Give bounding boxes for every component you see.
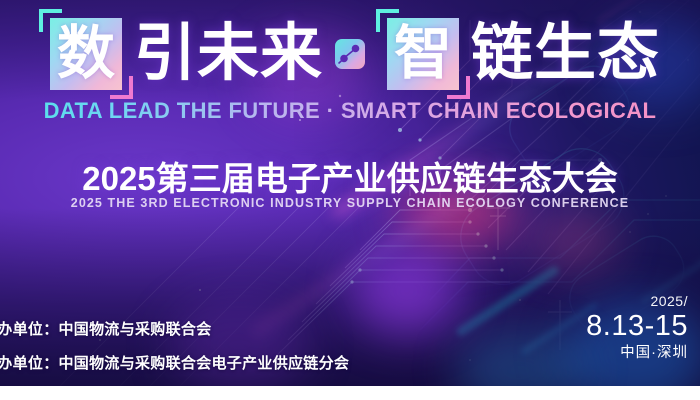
conference-name-chinese: 2025第三届电子产业供应链生态大会 xyxy=(0,152,700,200)
network-nodes-glyph xyxy=(335,39,365,69)
event-city: 中国·深圳 xyxy=(578,345,688,362)
conference-name-english: 2025 THE 3RD ELECTRONIC INDUSTRY SUPPLY … xyxy=(0,196,700,210)
event-date-block: 2025/ 8.13-15 中国·深圳 xyxy=(578,294,688,362)
event-year: 2025/ xyxy=(578,294,688,309)
organisers-block: 主办单位：中国物流与采购联合会 承办单位：中国物流与采购联合会电子产业供应链分会 xyxy=(0,318,452,386)
banner-artwork: 数 引未来 智 链生态 DATA L xyxy=(0,0,700,386)
event-days: 8.13-15 xyxy=(578,310,688,342)
headline-boxed-shu: 数 xyxy=(50,18,122,90)
corner-bracket-top-left-icon xyxy=(39,9,62,32)
headline: 数 引未来 智 链生态 xyxy=(0,14,700,94)
bottom-white-strip xyxy=(0,386,700,400)
organiser-undertaker: 承办单位：中国物流与采购联合会电子产业供应链分会 xyxy=(0,352,452,373)
conference-banner: 数 引未来 智 链生态 DATA L xyxy=(0,0,700,400)
subtitle-english: DATA LEAD THE FUTURE · SMART CHAIN ECOLO… xyxy=(0,98,700,124)
corner-bracket-top-left-icon xyxy=(376,9,399,32)
corner-bracket-bottom-right-icon xyxy=(110,76,133,99)
headline-boxed-zhi-text: 智 xyxy=(394,25,452,83)
headline-boxed-shu-text: 数 xyxy=(57,25,115,83)
headline-lian-sheng-tai: 链生态 xyxy=(471,23,660,85)
headline-yin-wei-lai: 引未来 xyxy=(134,23,323,85)
network-nodes-icon xyxy=(335,39,365,69)
organiser-host: 主办单位：中国物流与采购联合会 xyxy=(0,318,452,339)
headline-boxed-zhi: 智 xyxy=(387,18,459,90)
corner-bracket-bottom-right-icon xyxy=(447,76,470,99)
